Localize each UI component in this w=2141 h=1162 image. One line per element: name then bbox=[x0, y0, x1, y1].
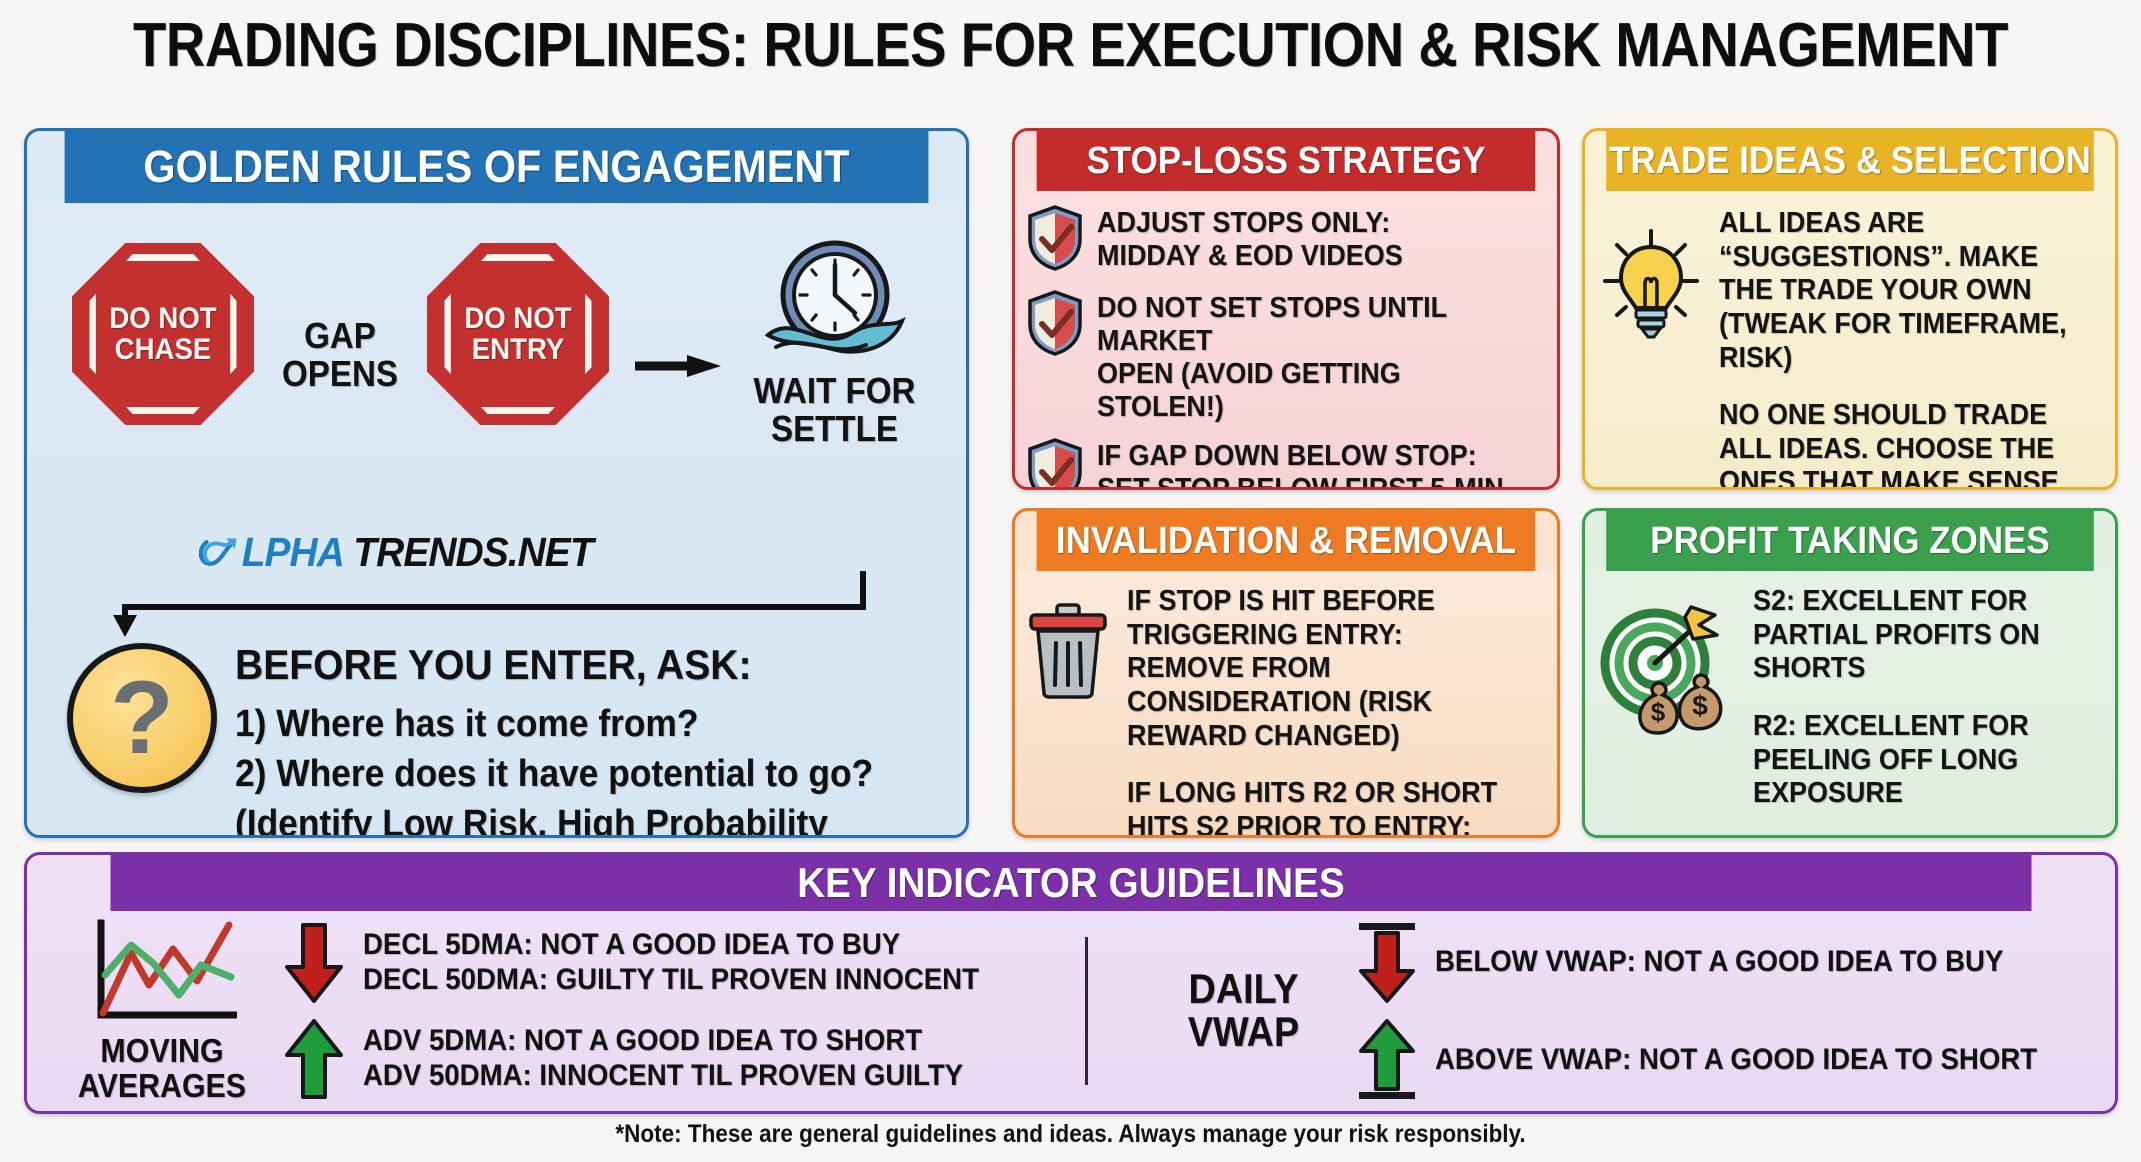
panel-stop-loss-body: ADJUST STOPS ONLY: MIDDAY & EOD VIDEOS D… bbox=[1015, 191, 1557, 487]
shield-check-icon bbox=[1027, 205, 1083, 276]
ma-advance-row: ADV 5DMA: NOT A GOOD IDEA TO SHORT ADV 5… bbox=[283, 1019, 1033, 1099]
panel-invalidation-header: INVALIDATION & REMOVAL bbox=[1037, 511, 1536, 571]
panel-trade-ideas-header: TRADE IDEAS & SELECTION bbox=[1606, 131, 2094, 191]
ma-decline-text: DECL 5DMA: NOT A GOOD IDEA TO BUY DECL 5… bbox=[363, 928, 979, 998]
before-you-enter-block: BEFORE YOU ENTER, ASK: 1) Where has it c… bbox=[235, 641, 955, 838]
panel-golden-rules: GOLDEN RULES OF ENGAGEMENT DO NOT CHASE … bbox=[24, 128, 969, 838]
stop-sign-do-not-entry-icon: DO NOT ENTRY bbox=[427, 243, 609, 425]
arrow-up-green-icon bbox=[283, 1019, 345, 1099]
wait-for-settle-label: WAIT FOR SETTLE bbox=[736, 372, 934, 448]
gap-opens-line1: GAP bbox=[266, 317, 413, 355]
wait-for-settle-block: WAIT FOR SETTLE bbox=[727, 235, 942, 448]
infographic-page: TRADING DISCIPLINES: RULES FOR EXECUTION… bbox=[0, 0, 2141, 1162]
panel-golden-rules-header: GOLDEN RULES OF ENGAGEMENT bbox=[65, 131, 929, 203]
stop-loss-item-text: ADJUST STOPS ONLY: MIDDAY & EOD VIDEOS bbox=[1097, 205, 1403, 273]
ma-advance-line2: ADV 50DMA: INNOCENT TIL PROVEN GUILTY bbox=[363, 1059, 963, 1092]
svg-text:$: $ bbox=[1692, 690, 1708, 721]
moving-averages-section: MOVING AVERAGES DECL 5DMA: NOT A GOOD ID… bbox=[27, 919, 1067, 1103]
ask-title: BEFORE YOU ENTER, ASK: bbox=[235, 641, 905, 689]
ma-label-line2: AVERAGES bbox=[75, 1069, 250, 1103]
stop-loss-item-line1: ADJUST STOPS ONLY: bbox=[1097, 207, 1390, 239]
profit-taking-para-1: S2: EXCELLENT FOR PARTIAL PROFITS ON SHO… bbox=[1753, 585, 2077, 686]
moving-averages-label: MOVING AVERAGES bbox=[75, 1034, 250, 1103]
stop-loss-item-line1: DO NOT SET STOPS UNTIL MARKET bbox=[1097, 292, 1447, 357]
ma-label-line1: MOVING bbox=[75, 1034, 250, 1068]
ask-question-1: 1) Where has it come from? bbox=[235, 699, 905, 749]
vwap-label-line1: DAILY bbox=[1165, 968, 1323, 1011]
logo-trends-text: TRENDS.NET bbox=[353, 529, 592, 576]
do-not-chase-line1: DO NOT bbox=[109, 303, 216, 334]
stop-loss-item-line2: MIDDAY & EOD VIDEOS bbox=[1097, 240, 1403, 272]
arrow-down-red-icon bbox=[283, 923, 345, 1003]
page-title: TRADING DISCIPLINES: RULES FOR EXECUTION… bbox=[128, 10, 2012, 81]
vwap-below-row: BELOW VWAP: NOT A GOOD IDEA TO BUY bbox=[1357, 921, 2089, 1003]
vwap-above-row: ABOVE VWAP: NOT A GOOD IDEA TO SHORT bbox=[1357, 1019, 2089, 1101]
svg-text:$: $ bbox=[1651, 697, 1666, 727]
panel-golden-rules-body: DO NOT CHASE GAP OPENS DO NOT ENTRY bbox=[27, 203, 966, 835]
vwap-below-text: BELOW VWAP: NOT A GOOD IDEA TO BUY bbox=[1435, 945, 2003, 980]
panel-invalidation-removal: INVALIDATION & REMOVAL IF STOP IS HIT BE… bbox=[1012, 508, 1560, 838]
panel-stop-loss-strategy: STOP-LOSS STRATEGY ADJUST STOPS ONLY: MI… bbox=[1012, 128, 1560, 490]
ask-question-2: 2) Where does it have potential to go? bbox=[235, 749, 905, 799]
ask-note: (Identify Low Risk, High Probability Tra… bbox=[235, 799, 905, 838]
do-not-chase-line2: CHASE bbox=[115, 334, 212, 365]
gap-opens-label: GAP OPENS bbox=[266, 317, 413, 393]
stop-loss-item: IF GAP DOWN BELOW STOP: SET STOP BELOW F… bbox=[1027, 438, 1541, 490]
panel-stop-loss-header: STOP-LOSS STRATEGY bbox=[1037, 131, 1536, 191]
stop-loss-item: ADJUST STOPS ONLY: MIDDAY & EOD VIDEOS bbox=[1027, 205, 1541, 276]
daily-vwap-label: DAILY VWAP bbox=[1165, 968, 1323, 1054]
wait-line2: SETTLE bbox=[736, 410, 934, 448]
ma-decline-line1: DECL 5DMA: NOT A GOOD IDEA TO BUY bbox=[363, 928, 900, 961]
stop-sign-do-not-chase-icon: DO NOT CHASE bbox=[72, 243, 254, 425]
ma-decline-line2: DECL 50DMA: GUILTY TIL PROVEN INNOCENT bbox=[363, 963, 979, 996]
line-chart-icon bbox=[87, 919, 237, 1027]
shield-check-icon bbox=[1027, 438, 1083, 490]
gap-opens-line2: OPENS bbox=[266, 355, 413, 393]
profit-taking-text: S2: EXCELLENT FOR PARTIAL PROFITS ON SHO… bbox=[1753, 585, 2101, 811]
panel-key-indicator-body: MOVING AVERAGES DECL 5DMA: NOT A GOOD ID… bbox=[27, 911, 2115, 1111]
arrow-right-icon bbox=[635, 355, 721, 377]
question-mark-icon: ? bbox=[67, 643, 217, 793]
section-divider bbox=[1085, 937, 1088, 1085]
panel-invalidation-body: IF STOP IS HIT BEFORE TRIGGERING ENTRY: … bbox=[1015, 571, 1557, 835]
wait-line1: WAIT FOR bbox=[736, 372, 934, 410]
invalidation-text: IF STOP IS HIT BEFORE TRIGGERING ENTRY: … bbox=[1127, 585, 1547, 838]
vwap-above-text: ABOVE VWAP: NOT A GOOD IDEA TO SHORT bbox=[1435, 1043, 2037, 1078]
arrow-down-vwap-icon bbox=[1357, 921, 1417, 1003]
target-moneybags-icon-wrap: $ $ bbox=[1599, 585, 1737, 740]
trash-can-icon bbox=[1025, 603, 1111, 699]
gap-flow-row: DO NOT CHASE GAP OPENS DO NOT ENTRY bbox=[27, 225, 969, 485]
trade-ideas-para-1: ALL IDEAS ARE “SUGGESTIONS”. MAKE THE TR… bbox=[1719, 207, 2074, 375]
do-not-entry-line2: ENTRY bbox=[472, 334, 565, 365]
invalidation-para-1: IF STOP IS HIT BEFORE TRIGGERING ENTRY: … bbox=[1127, 585, 1518, 753]
target-moneybags-icon: $ $ bbox=[1599, 603, 1737, 735]
ma-advance-line1: ADV 5DMA: NOT A GOOD IDEA TO SHORT bbox=[363, 1024, 922, 1057]
vwap-label-line2: VWAP bbox=[1165, 1011, 1323, 1054]
ma-advance-text: ADV 5DMA: NOT A GOOD IDEA TO SHORT ADV 5… bbox=[363, 1024, 963, 1094]
daily-vwap-section: DAILY VWAP BELOW VWAP: NOT A GOOD IDEA T… bbox=[1106, 921, 2115, 1101]
stop-loss-item-line2: OPEN (AVOID GETTING STOLEN!) bbox=[1097, 358, 1401, 423]
panel-profit-taking-zones: PROFIT TAKING ZONES $ $ S2: EXCELLENT FO bbox=[1582, 508, 2118, 838]
stop-loss-item-text: IF GAP DOWN BELOW STOP: SET STOP BELOW F… bbox=[1097, 438, 1510, 490]
panel-key-indicator-guidelines: KEY INDICATOR GUIDELINES MOVING AVERAGES bbox=[24, 852, 2118, 1114]
stop-loss-item-text: DO NOT SET STOPS UNTIL MARKET OPEN (AVOI… bbox=[1097, 290, 1510, 424]
lightbulb-icon-wrap bbox=[1599, 207, 1703, 350]
shield-check-icon bbox=[1027, 290, 1083, 361]
trade-ideas-para-2: NO ONE SHOULD TRADE ALL IDEAS. CHOOSE TH… bbox=[1719, 399, 2074, 490]
do-not-entry-line1: DO NOT bbox=[464, 303, 571, 334]
ma-decline-row: DECL 5DMA: NOT A GOOD IDEA TO BUY DECL 5… bbox=[283, 923, 1033, 1003]
panel-profit-taking-header: PROFIT TAKING ZONES bbox=[1606, 511, 2094, 571]
stop-loss-item-line2: SET STOP BELOW FIRST 5-MIN LOW bbox=[1097, 473, 1504, 490]
panel-trade-ideas: TRADE IDEAS & SELECTION bbox=[1582, 128, 2118, 490]
panel-profit-taking-body: $ $ S2: EXCELLENT FOR PARTIAL PROFITS ON… bbox=[1585, 571, 2115, 835]
vwap-rules: BELOW VWAP: NOT A GOOD IDEA TO BUY ABOVE… bbox=[1357, 921, 2089, 1101]
trade-ideas-text: ALL IDEAS ARE “SUGGESTIONS”. MAKE THE TR… bbox=[1719, 207, 2101, 490]
profit-taking-para-2: R2: EXCELLENT FOR PEELING OFF LONG EXPOS… bbox=[1753, 710, 2077, 811]
moving-averages-icon-block: MOVING AVERAGES bbox=[67, 919, 257, 1103]
invalidation-para-2: IF LONG HITS R2 OR SHORT HITS S2 PRIOR T… bbox=[1127, 777, 1518, 838]
lightbulb-icon bbox=[1599, 225, 1703, 345]
flow-connector-arrow-icon bbox=[103, 571, 873, 637]
panel-trade-ideas-body: ALL IDEAS ARE “SUGGESTIONS”. MAKE THE TR… bbox=[1585, 191, 2115, 487]
logo-alpha-text: LPHA bbox=[242, 529, 344, 576]
stop-loss-item: DO NOT SET STOPS UNTIL MARKET OPEN (AVOI… bbox=[1027, 290, 1541, 424]
arrow-up-vwap-icon bbox=[1357, 1019, 1417, 1101]
clock-wave-icon bbox=[760, 235, 910, 363]
stop-loss-item-line1: IF GAP DOWN BELOW STOP: bbox=[1097, 440, 1477, 472]
panel-key-indicator-header: KEY INDICATOR GUIDELINES bbox=[111, 855, 2032, 911]
trash-icon-wrap bbox=[1025, 585, 1111, 704]
moving-averages-rules: DECL 5DMA: NOT A GOOD IDEA TO BUY DECL 5… bbox=[283, 923, 1033, 1099]
footnote: *Note: These are general guidelines and … bbox=[107, 1120, 2034, 1149]
